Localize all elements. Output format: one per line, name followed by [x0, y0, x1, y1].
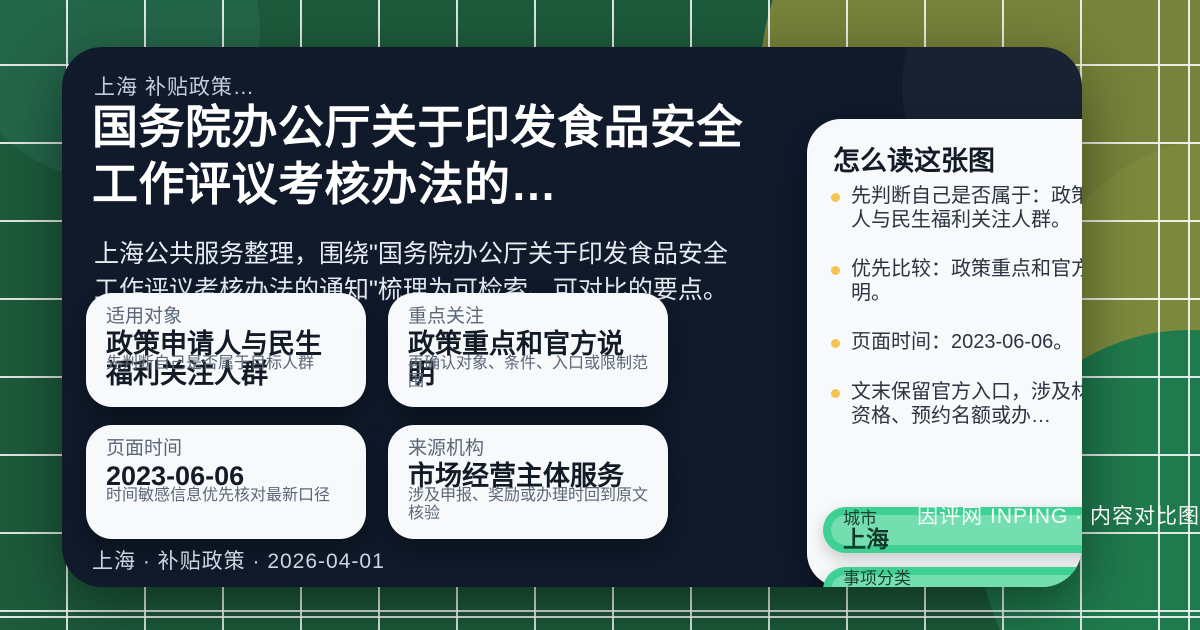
stat-card: 重点关注 政策重点和官方说明 再确认对象、条件、入口或限制范围: [388, 293, 668, 407]
stat-card-grid: 适用对象 政策申请人与民生福利关注人群 先判断自己是否属于目标人群 重点关注 政…: [86, 293, 700, 539]
list-item: 文末保留官方入口，涉及材料、资格、预约名额或办…: [829, 381, 1082, 428]
list-item: 先判断自己是否属于：政策申请人与民生福利关注人群。: [829, 185, 1082, 232]
how-to-read-title: 怎么读这张图: [833, 139, 995, 178]
list-item-text: 页面时间：2023-06-06。: [851, 331, 1073, 353]
poster-stage: 上海 补贴政策… 国务院办公厅关于印发食品安全工作评议考核办法的… 上海公共服务…: [0, 0, 1200, 630]
footer-left-text: 上海 · 补贴政策 · 2026-04-01: [92, 545, 385, 575]
stat-card-label: 适用对象: [106, 307, 346, 328]
stat-card-note: 再确认对象、条件、入口或限制范围: [408, 355, 652, 392]
bullet-dot-icon: [831, 339, 840, 348]
list-item: 优先比较：政策重点和官方说明。: [829, 258, 1082, 305]
list-item-text: 先判断自己是否属于：政策申请人与民生福利关注人群。: [851, 185, 1082, 231]
list-item-text: 文末保留官方入口，涉及材料、资格、预约名额或办…: [851, 381, 1082, 427]
how-to-read-list: 先判断自己是否属于：政策申请人与民生福利关注人群。 优先比较：政策重点和官方说明…: [829, 185, 1082, 454]
stat-card: 来源机构 市场经营主体服务 涉及申报、奖励或办理时回到原文核验: [388, 425, 668, 539]
bullet-dot-icon: [831, 266, 840, 275]
stat-card-label: 重点关注: [408, 307, 648, 328]
kicker-label: 上海 补贴政策…: [94, 71, 255, 101]
stat-card-label: 页面时间: [106, 439, 346, 460]
stat-card: 页面时间 2023-06-06 时间敏感信息优先核对最新口径: [86, 425, 366, 539]
chip-key: 事项分类: [843, 570, 911, 587]
stat-card-note: 时间敏感信息优先核对最新口径: [106, 487, 350, 505]
list-item-text: 优先比较：政策重点和官方说明。: [851, 258, 1082, 304]
bullet-dot-icon: [831, 389, 840, 398]
page-title: 国务院办公厅关于印发食品安全工作评议考核办法的…: [92, 99, 752, 212]
stat-card-label: 来源机构: [408, 439, 648, 460]
footer-watermark: 因评网 INPING · 内容对比图: [917, 500, 1200, 530]
list-item: 页面时间：2023-06-06。: [829, 331, 1082, 355]
stat-card: 适用对象 政策申请人与民生福利关注人群 先判断自己是否属于目标人群: [86, 293, 366, 407]
stat-card-note: 先判断自己是否属于目标人群: [106, 355, 350, 373]
bullet-dot-icon: [831, 193, 840, 202]
stat-card-note: 涉及申报、奖励或办理时回到原文核验: [408, 487, 652, 524]
tag-chip-category[interactable]: 事项分类 公共服务: [823, 567, 1082, 587]
chip-value: 上海: [843, 527, 889, 552]
